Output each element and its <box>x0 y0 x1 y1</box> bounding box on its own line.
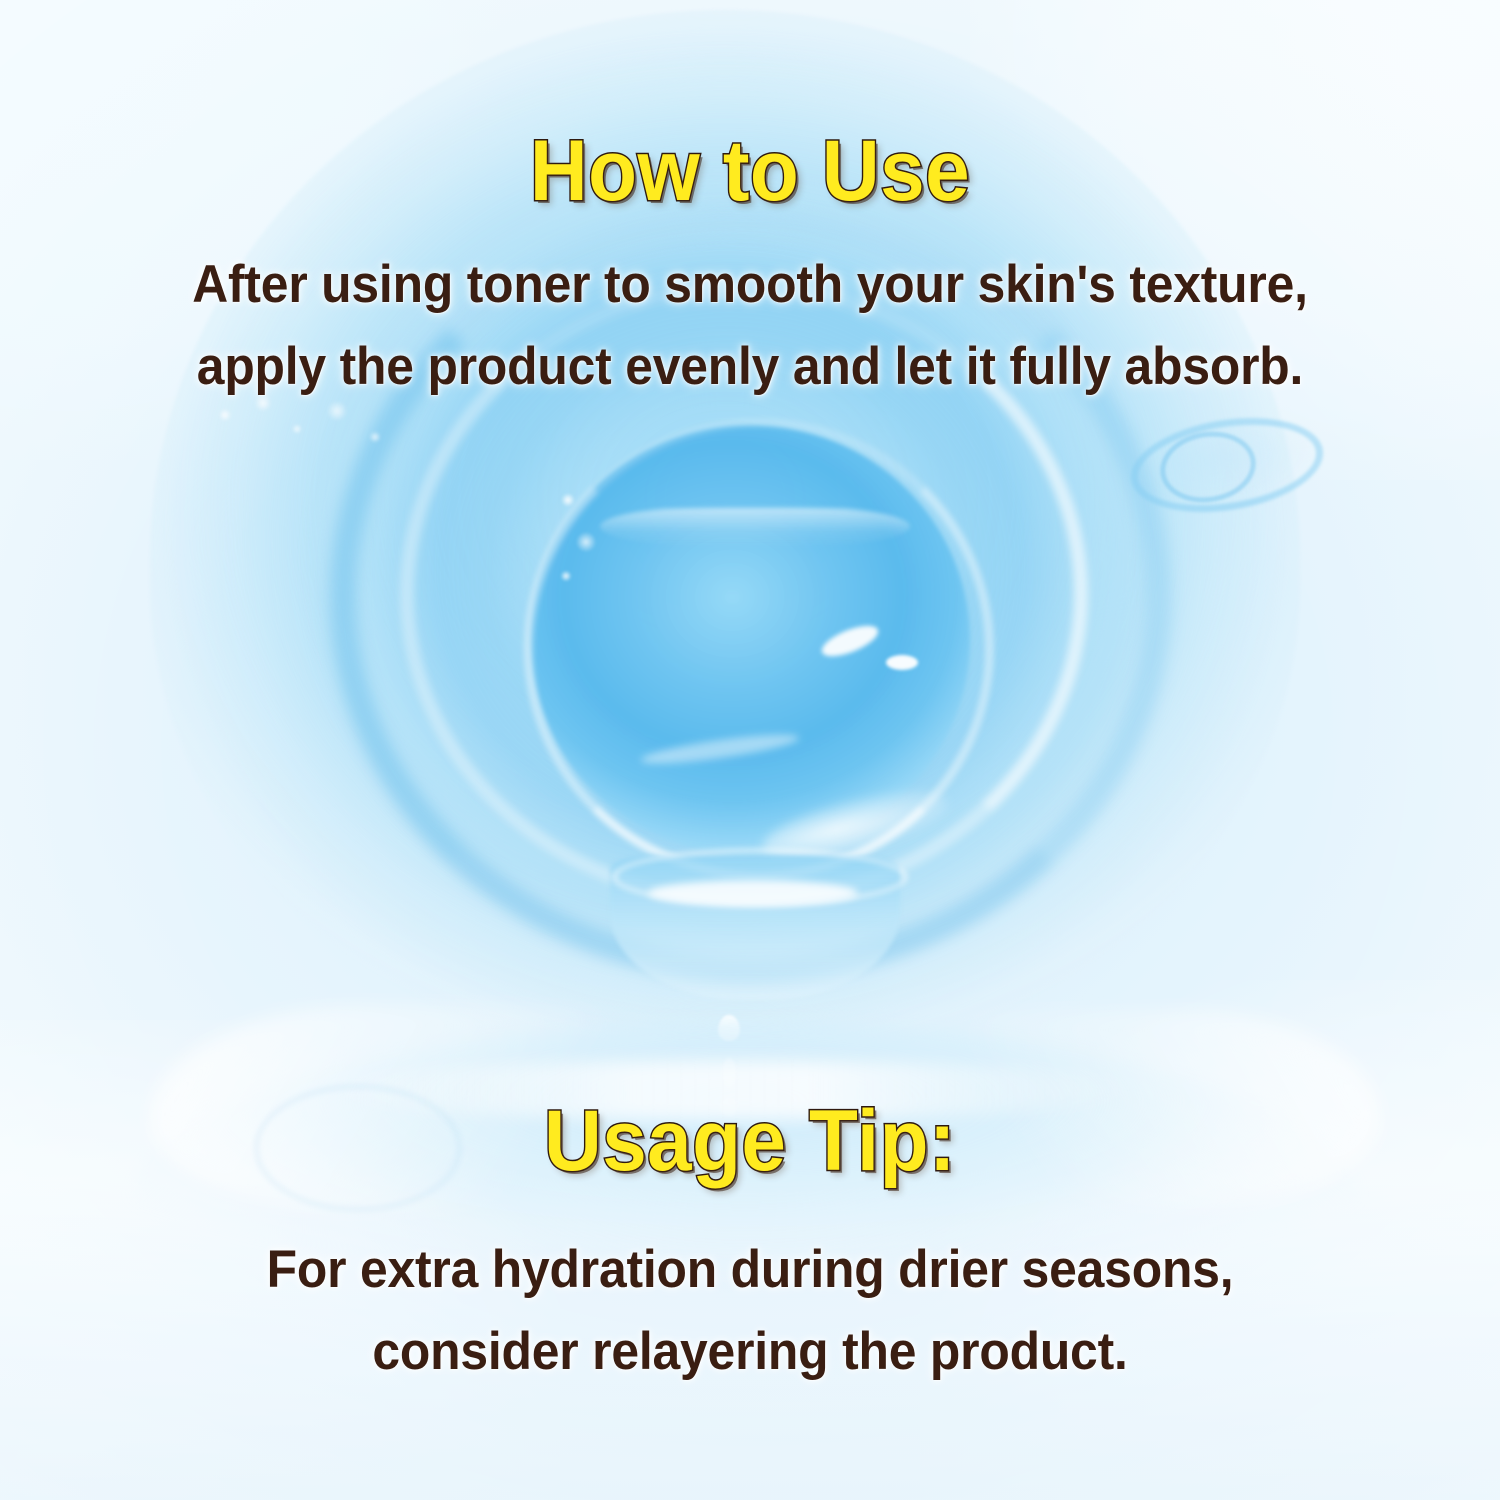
usage-tip-line-1: For extra hydration during drier seasons… <box>45 1243 1455 1296</box>
how-to-use-line-2: apply the product evenly and let it full… <box>45 340 1455 393</box>
usage-tip-heading: Usage Tip: <box>53 1098 1448 1184</box>
product-instruction-poster: How to Use After using toner to smooth y… <box>0 0 1500 1500</box>
text-overlay-layer: How to Use After using toner to smooth y… <box>0 0 1500 1500</box>
usage-tip-line-2: consider relayering the product. <box>45 1325 1455 1378</box>
how-to-use-heading: How to Use <box>53 128 1448 214</box>
how-to-use-line-1: After using toner to smooth your skin's … <box>45 258 1455 311</box>
